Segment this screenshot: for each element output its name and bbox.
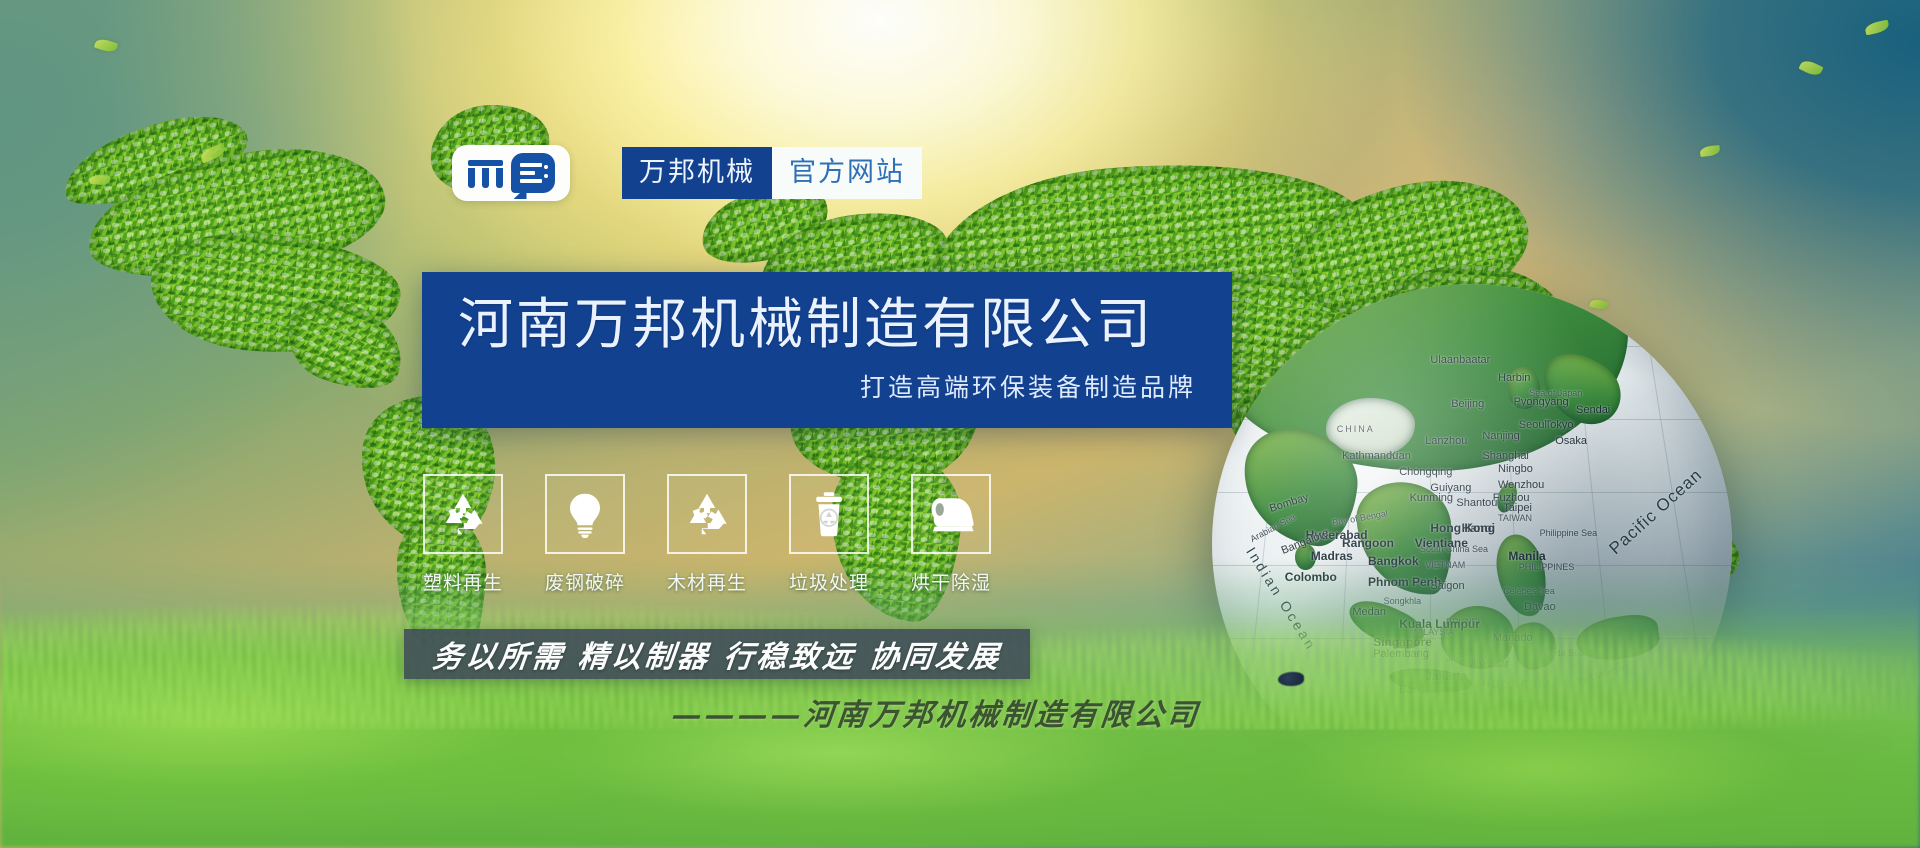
globe-label-davao: Davao xyxy=(1524,601,1556,613)
globe-label-shantou: Shantou xyxy=(1456,497,1497,509)
globe-label-seoul: Seoul xyxy=(1519,419,1547,431)
globe-label-singapore: Singapore xyxy=(1373,635,1432,649)
service-label: 垃圾处理 xyxy=(789,568,869,595)
service-icon-box[interactable] xyxy=(545,474,625,554)
globe-label-guiyang: Guiyang xyxy=(1430,482,1471,494)
brand-header-row[interactable]: 万邦机械 官方网站 xyxy=(452,145,922,201)
floating-leaf-icon xyxy=(199,143,228,164)
floating-leaf-icon xyxy=(94,37,118,54)
continent-north-america xyxy=(54,103,255,217)
service-icon-box[interactable] xyxy=(911,474,991,554)
globe-label-palembang: Palembang xyxy=(1373,648,1429,660)
hero-title-panel: 河南万邦机械制造有限公司 打造高端环保装备制造品牌 xyxy=(422,272,1232,428)
globe-label-colombo: Colombo xyxy=(1285,570,1337,584)
globe-label-country-china: CHINA xyxy=(1337,424,1375,434)
recycle-icon xyxy=(683,490,731,538)
dryer-machine-icon xyxy=(927,490,975,538)
globe-label-beijing: Beijing xyxy=(1451,398,1484,410)
globe-graphic: Pacific Ocean Indian Ocean South China S… xyxy=(1212,284,1732,804)
globe-label-country-vietnam: VIETNAM xyxy=(1425,560,1465,570)
globe-label-ulaanbaatar: Ulaanbaatar xyxy=(1430,354,1490,366)
service-item-drying-dehumidifying[interactable]: 烘干除湿 xyxy=(906,474,996,595)
official-site-box[interactable]: 官方网站 xyxy=(772,147,922,199)
slogan-banner: 务以所需 精以制器 行稳致远 协同发展 xyxy=(404,629,1030,679)
service-item-waste-treatment[interactable]: 垃圾处理 xyxy=(784,474,874,595)
globe-sphere: Pacific Ocean Indian Ocean South China S… xyxy=(1212,284,1732,804)
trash-bin-icon xyxy=(805,490,853,538)
floating-leaf-icon xyxy=(1864,20,1890,36)
service-label: 塑料再生 xyxy=(423,568,503,595)
globe-label-harbin: Harbin xyxy=(1498,372,1530,384)
globe-label-medan: Medan xyxy=(1352,606,1386,618)
globe-label-celebes-sea: Celebes Sea xyxy=(1503,586,1555,596)
globe-label-vientiane: Vientiane xyxy=(1415,536,1468,550)
globe-label-chongqing: Chongqing xyxy=(1399,466,1452,478)
recycle-icon xyxy=(439,490,487,538)
service-icon-row: 塑料再生 废钢破碎 xyxy=(418,474,996,595)
globe-label-jakarta: Jakarta xyxy=(1425,669,1467,683)
globe-label-hanoi: Hong Kong xyxy=(1430,521,1495,535)
service-item-plastic-recycling[interactable]: 塑料再生 xyxy=(418,474,508,595)
globe-label-sendai: Sendai xyxy=(1576,404,1610,416)
globe-label-osaka: Osaka xyxy=(1555,435,1587,447)
lightbulb-icon xyxy=(561,490,609,538)
continent-north-america xyxy=(78,132,393,297)
globe-label-wenzhou: Wenzhou xyxy=(1498,479,1544,491)
service-label: 木材再生 xyxy=(667,568,747,595)
logo-w-mark-icon xyxy=(468,158,504,188)
service-item-wood-recycling[interactable]: 木材再生 xyxy=(662,474,752,595)
service-label: 烘干除湿 xyxy=(911,568,991,595)
floating-leaf-icon xyxy=(89,174,110,187)
wb-logo-icon[interactable] xyxy=(452,145,570,201)
logo-chat-bubble-icon xyxy=(511,153,555,193)
globe-label-tokyo: Tokyo xyxy=(1545,419,1574,431)
slogan-text: 务以所需 精以制器 行稳致远 协同发展 xyxy=(431,632,1004,676)
globe-label-qingdao: Nanjing xyxy=(1482,430,1519,442)
globe-label-songkhla: Songkhla xyxy=(1384,596,1422,606)
globe-label-bandung: Bandung xyxy=(1399,684,1443,696)
globe-label-banda-sea: Banda Sea xyxy=(1540,648,1585,658)
service-icon-box[interactable] xyxy=(667,474,747,554)
globe-label-kuala-lumpur: Kuala Lumpur xyxy=(1399,617,1480,631)
continent-central-america xyxy=(274,285,415,404)
globe-label-java-sea: Java Sea xyxy=(1446,653,1484,663)
service-item-scrap-steel-crushing[interactable]: 废钢破碎 xyxy=(540,474,630,595)
globe-label-port-hedland: Port Hedland xyxy=(1441,736,1494,746)
globe-label-shanghai: Shanghai xyxy=(1482,450,1529,462)
hero-banner: Pacific Ocean Indian Ocean South China S… xyxy=(0,0,1920,848)
globe-label-bangkok: Bangkok xyxy=(1368,554,1419,568)
globe-label-country-philippines: PHILIPPINES xyxy=(1519,562,1575,572)
service-icon-box[interactable] xyxy=(423,474,503,554)
brand-name-box[interactable]: 万邦机械 xyxy=(622,147,772,199)
globe-label-manila: Manila xyxy=(1508,549,1545,563)
globe-label-manado: Manado xyxy=(1493,632,1533,644)
page-subtitle: 打造高端环保装备制造品牌 xyxy=(422,368,1232,404)
globe-label-philippine-sea: Philippine Sea xyxy=(1540,528,1598,538)
globe-label-xian: Lanzhou xyxy=(1425,435,1467,447)
page-title: 河南万邦机械制造有限公司 xyxy=(422,296,1232,354)
floating-leaf-icon xyxy=(1700,145,1721,157)
continent-north-america xyxy=(145,222,406,365)
globe-label-sea-of-japan: Sea of Japan xyxy=(1529,388,1582,398)
service-icon-box[interactable] xyxy=(789,474,869,554)
grass-insect xyxy=(1278,672,1304,686)
globe-label-taipei: Taipei xyxy=(1503,502,1532,514)
globe-label-kathmandu: Kathmandu xyxy=(1342,450,1398,462)
globe-label-madras: Madras xyxy=(1311,549,1353,563)
globe-label-timor-sea: Timor Sea xyxy=(1493,684,1534,694)
globe-label-ningbo: Ningbo xyxy=(1498,463,1533,475)
brand-name-boxes: 万邦机械 官方网站 xyxy=(622,147,922,199)
globe-label-saigon: Saigon xyxy=(1430,580,1464,592)
slogan-attribution: ————河南万邦机械制造有限公司 xyxy=(670,690,1203,734)
floating-leaf-icon xyxy=(1798,58,1823,78)
globe-label-darwin: Darwin xyxy=(1508,700,1548,714)
service-label: 废钢破碎 xyxy=(545,568,625,595)
